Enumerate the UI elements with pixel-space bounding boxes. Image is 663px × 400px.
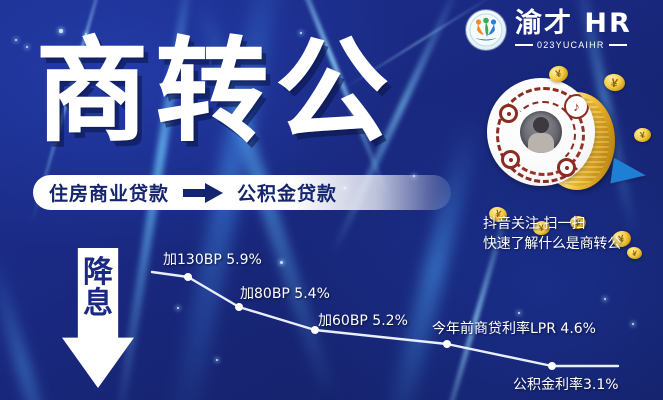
qr-caption: 抖音关注 扫一扫 快速了解什么是商转公 xyxy=(483,214,663,255)
rate-cut-label-line-1: 降 xyxy=(62,258,134,289)
qr-finder-eye xyxy=(501,150,520,169)
right-arrow-icon xyxy=(183,183,223,203)
gold-coin-icon: ¥ xyxy=(633,127,651,143)
subtitle-from-label: 住房商业贷款 xyxy=(49,179,169,206)
subtitle-to-label: 公积金贷款 xyxy=(237,179,337,206)
divider-dash xyxy=(515,44,533,46)
qr-coin-group: ♪ xyxy=(487,78,617,208)
chart-point-label: 加130BP 5.9% xyxy=(163,249,262,269)
chart-data-point xyxy=(184,273,192,281)
rate-cut-label-line-2: 息 xyxy=(62,289,134,320)
page-title: 商转公 xyxy=(36,36,396,148)
douyin-qr-code-icon[interactable]: ♪ xyxy=(487,78,595,186)
subtitle-pill: 住房商业贷款 公积金贷款 xyxy=(33,175,451,210)
brand-text: 渝才 HR 023YUCAIHR xyxy=(515,10,632,50)
blue-triangle-accent xyxy=(610,158,647,188)
brand-logo: 渝才 HR 023YUCAIHR xyxy=(466,10,632,50)
poster-canvas: 商转公 住房商业贷款 公积金贷款 渝才 HR xyxy=(0,0,663,400)
qr-caption-line-1: 抖音关注 扫一扫 xyxy=(483,214,663,234)
profile-avatar-icon xyxy=(520,111,562,153)
sparkle-dot xyxy=(632,323,634,325)
light-streak xyxy=(0,253,70,400)
brand-romanization-row: 023YUCAIHR xyxy=(515,40,632,50)
sparkle-dot xyxy=(518,312,520,314)
chart-point-label: 公积金利率3.1% xyxy=(513,374,619,394)
chart-point-label: 加60BP 5.2% xyxy=(318,310,408,330)
qr-caption-line-2: 快速了解什么是商转公 xyxy=(483,234,663,254)
divider-dash xyxy=(609,44,627,46)
sparkle-dot xyxy=(177,307,179,309)
rate-cut-label: 降 息 xyxy=(62,258,134,319)
chart-point-label: 今年前商贷利率LPR 4.6% xyxy=(432,318,596,338)
light-streak xyxy=(380,122,481,400)
music-note-icon: ♪ xyxy=(564,94,589,119)
sparkle-dot xyxy=(280,261,283,264)
yucai-hr-emblem-icon xyxy=(466,10,506,50)
qr-finder-eye xyxy=(557,158,576,177)
sparkle-dot xyxy=(604,298,607,301)
chart-data-point xyxy=(443,340,451,348)
chart-data-point xyxy=(235,303,243,311)
sparkle-dot xyxy=(216,359,219,362)
qr-finder-eye xyxy=(499,104,518,123)
sparkle-dot xyxy=(15,39,17,41)
chart-data-point xyxy=(548,362,556,370)
brand-name: 渝才 HR xyxy=(515,10,632,37)
rate-cut-arrow-badge: 降 息 xyxy=(62,248,134,388)
chart-point-label: 加80BP 5.4% xyxy=(240,283,330,303)
brand-romanization: 023YUCAIHR xyxy=(537,40,605,50)
sparkle-dot xyxy=(26,46,28,48)
